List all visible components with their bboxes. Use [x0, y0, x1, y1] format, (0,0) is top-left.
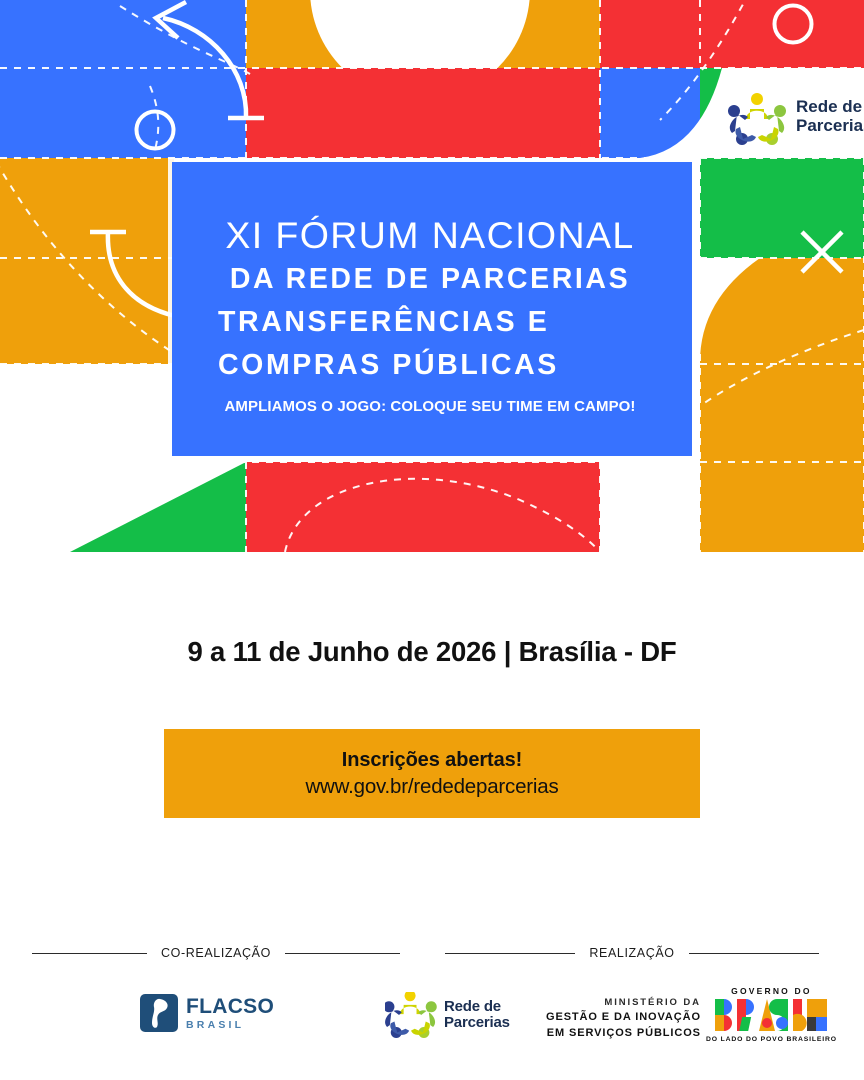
hero-graphic: Rede de Parcerias XI FÓRUM NACIONAL DA R…: [0, 0, 864, 580]
realization-label: REALIZAÇÃO: [589, 946, 674, 960]
governo-do-brasil-logo: GOVERNO DO DO LADO DO POV: [706, 986, 837, 1043]
event-date-location: 9 a 11 de Junho de 2026 | Brasília - DF: [0, 636, 864, 668]
rede-wordmark: Rede de Parcerias: [444, 999, 510, 1031]
title-line-1: XI FÓRUM NACIONAL: [225, 214, 634, 256]
rede-line2: Parcerias: [444, 1015, 510, 1031]
co-realization-caption-row: CO-REALIZAÇÃO: [32, 946, 400, 960]
divider-left-b: [285, 953, 400, 954]
realization-caption-row: REALIZAÇÃO: [432, 946, 832, 960]
block-orange-bottom: [700, 462, 864, 552]
block-green-triangle: [70, 462, 246, 552]
flacso-map-icon: [140, 994, 178, 1032]
gov-bottom-label: DO LADO DO POVO BRASILEIRO: [706, 1036, 837, 1043]
cta-url-link[interactable]: www.gov.br/rededeparcerias: [305, 775, 558, 799]
title-line-4: COMPRAS PÚBLICAS: [218, 349, 559, 381]
title-card: XI FÓRUM NACIONAL DA REDE DE PARCERIAS T…: [168, 158, 696, 460]
ministry-line1: MINISTÉRIO DA: [604, 996, 700, 1010]
cta-title: Inscrições abertas!: [342, 749, 522, 772]
title-line-3: TRANSFERÊNCIAS E: [218, 306, 549, 338]
block-red-r2c2: [246, 68, 600, 158]
flacso-wordmark: FLACSO BRASIL: [186, 996, 274, 1031]
flacso-name: FLACSO: [186, 996, 274, 1017]
tactical-board-artwork: Rede de Parcerias XI FÓRUM NACIONAL DA R…: [0, 0, 864, 580]
block-green-r3c4: [700, 158, 864, 258]
title-line-2: DA REDE DE PARCERIAS: [230, 263, 630, 295]
flacso-country: BRASIL: [186, 1020, 274, 1031]
rede-line1: Rede de: [444, 999, 510, 1015]
ministry-wordmark: MINISTÉRIO DA GESTÃO E DA INOVAÇÃO EM SE…: [546, 996, 701, 1042]
ministry-line2: GESTÃO E DA INOVAÇÃO: [546, 1010, 701, 1026]
block-red-bottom: [246, 462, 600, 552]
rede-de-parcerias-logo-footer: Rede de Parcerias: [385, 992, 510, 1038]
registration-cta-box[interactable]: Inscrições abertas! www.gov.br/rededepar…: [164, 729, 700, 818]
people-star-icon: [385, 992, 437, 1038]
flacso-logo: FLACSO BRASIL: [140, 994, 274, 1032]
brasil-wordmark-icon: [715, 999, 827, 1032]
block-blue-r1c1: [0, 0, 246, 68]
ministry-line3: EM SERVIÇOS PÚBLICOS: [547, 1026, 701, 1042]
co-realization-label: CO-REALIZAÇÃO: [161, 946, 271, 960]
block-red-r1c3: [600, 0, 700, 68]
rede-logo-line1: Rede de: [796, 97, 862, 116]
gov-top-label: GOVERNO DO: [731, 986, 812, 996]
footer: CO-REALIZAÇÃO REALIZAÇÃO FLACSO BRASIL: [0, 930, 864, 1080]
title-tagline: AMPLIAMOS O JOGO: COLOQUE SEU TIME EM CA…: [224, 398, 635, 415]
rede-logo-line2: Parcerias: [796, 116, 864, 135]
block-orange-r3c1: [0, 158, 174, 364]
divider-right-a: [445, 953, 575, 954]
divider-left-a: [32, 953, 147, 954]
divider-right-b: [689, 953, 819, 954]
block-blue-r2c1: [0, 68, 246, 158]
